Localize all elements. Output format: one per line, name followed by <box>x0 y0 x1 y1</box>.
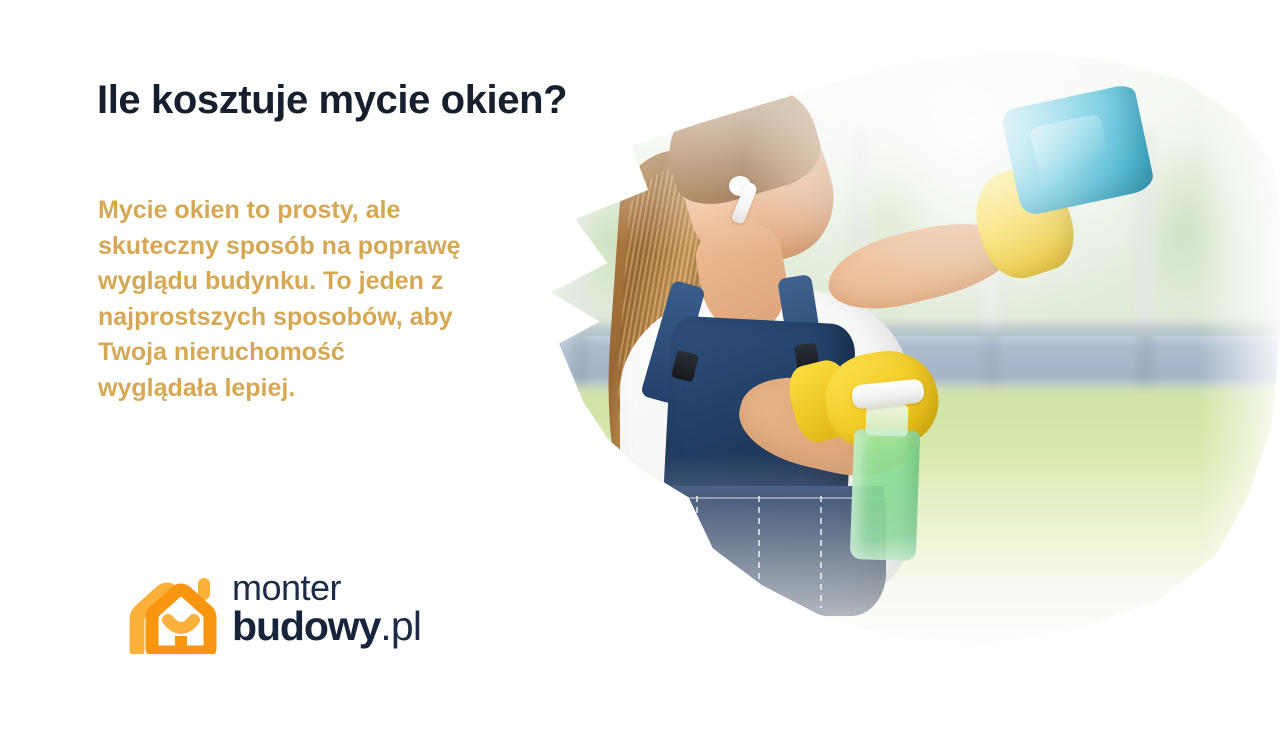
brand-name-budowy: budowy.pl <box>232 606 421 647</box>
brand-name-monter: monter <box>232 570 341 606</box>
page-title: Ile kosztuje mycie okien? <box>97 78 737 123</box>
brand-name-budowy-text: budowy <box>232 603 380 649</box>
brand-logo[interactable]: monter budowy.pl <box>128 572 473 658</box>
brand-tld: .pl <box>380 603 421 649</box>
brand-wordmark: monter budowy.pl <box>232 572 472 658</box>
house-smile-icon <box>128 576 226 654</box>
window-cleaning-banner: Ile kosztuje mycie okien? Mycie okien to… <box>0 0 1280 731</box>
subcopy-paragraph: Mycie okien to prosty, ale skuteczny spo… <box>98 193 466 406</box>
